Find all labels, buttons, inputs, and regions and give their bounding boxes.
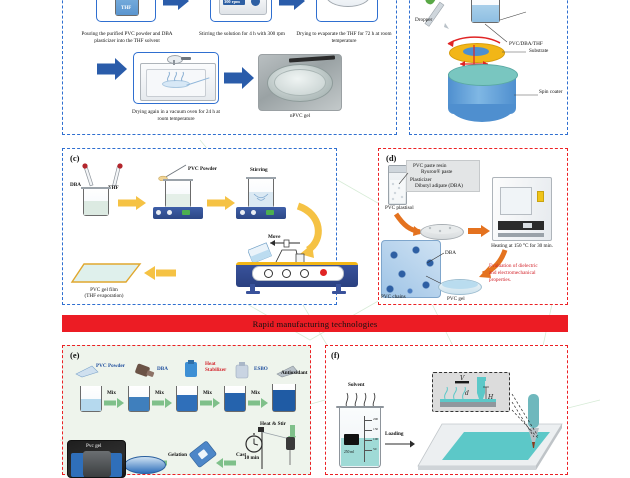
panel-a-step3-card: Solution bbox=[316, 0, 378, 22]
stirrer-display: 300 rpm bbox=[224, 0, 240, 4]
ingredient-label-4: Antioxidant bbox=[281, 370, 308, 377]
substrate-label: Substrate bbox=[529, 48, 548, 55]
mix-label-2: Mix bbox=[203, 390, 212, 397]
ingredient-text-0: PVC Powder bbox=[96, 363, 125, 369]
panel-e-beaker-3 bbox=[224, 386, 246, 412]
loading-label: Loading bbox=[385, 431, 403, 438]
svg-text:V: V bbox=[460, 375, 465, 382]
panel-c-arrow-out bbox=[144, 266, 176, 280]
svg-text:H: H bbox=[487, 394, 494, 401]
solution-dish bbox=[326, 0, 370, 7]
panel-c-arrow-1 bbox=[118, 196, 146, 210]
panel-c-beaker-2 bbox=[165, 180, 191, 208]
panel-c-output-line2: (THF evaporation) bbox=[64, 293, 144, 300]
rapid-manufacturing-banner: Rapid manufacturing technologies bbox=[62, 315, 568, 332]
panel-c-beaker-1 bbox=[83, 188, 109, 216]
solvent-beaker: 200 150 100 50 250 ml bbox=[339, 408, 381, 468]
esbo-bottle-icon bbox=[231, 362, 255, 380]
beaker-tick-3: 50 bbox=[373, 447, 376, 451]
evaluation-line-1: Evaluation of dielectric bbox=[489, 263, 538, 270]
panel-c-arrow-2 bbox=[207, 196, 235, 210]
panel-f-tag: (f) bbox=[331, 350, 340, 360]
solvent-label: Solvent bbox=[348, 382, 364, 389]
panel-a-arrow-2 bbox=[279, 0, 305, 10]
ingredient-label-1: DBA bbox=[157, 366, 168, 373]
panel-a-caption-3: Drying to evaporate the THF for 72 h at … bbox=[296, 31, 392, 44]
pvc-chains-label: PVC chains bbox=[381, 294, 406, 301]
beaker-leader-lines bbox=[498, 0, 556, 24]
dropper-label: Dropper bbox=[415, 17, 432, 24]
panel-a-arrow-4 bbox=[224, 67, 254, 89]
panel-b-beaker bbox=[471, 0, 500, 23]
panel-a-arrow-3 bbox=[97, 58, 127, 80]
vortex-icon bbox=[252, 192, 270, 204]
panel-a-arrow-1 bbox=[163, 0, 189, 10]
evaluation-line-2: and electromechanical bbox=[489, 270, 536, 277]
ingredient-label-0: PVC Powder bbox=[96, 364, 126, 370]
panel-a-caption-1: Pouring the purified PVC powder and DBA … bbox=[72, 31, 182, 44]
panel-a-caption-4: Drying again in a vacuum oven for 24 h a… bbox=[126, 109, 226, 122]
spin-coater-label: Spin coater bbox=[539, 89, 562, 96]
heating-oven bbox=[492, 177, 552, 241]
pvc-plastisol-label: PVC plastisol bbox=[385, 205, 414, 212]
heat-stabilizer-bottle-icon bbox=[180, 360, 204, 380]
stirring-label-c: Stirring bbox=[250, 167, 268, 174]
dba-leader-d bbox=[424, 252, 448, 266]
timer-icon bbox=[243, 432, 265, 454]
ingredient-text-2: Heat Stabilizer bbox=[205, 361, 226, 373]
dba-bottle-icon bbox=[132, 362, 156, 380]
ingredient-label-3: ESBO bbox=[254, 366, 268, 373]
panel-e-beaker-2 bbox=[176, 386, 198, 412]
panel-e-arrow-2 bbox=[200, 398, 220, 407]
callout-line-2: Ryuron® paste bbox=[421, 169, 452, 176]
beaker-tick-0: 200 bbox=[373, 417, 378, 421]
panel-d-arrow-2 bbox=[468, 225, 490, 237]
pouring-beaker-icon bbox=[188, 440, 224, 470]
npvc-gel-photo bbox=[258, 54, 342, 111]
inset-leader-lines bbox=[500, 392, 550, 444]
banner-label: Rapid manufacturing technologies bbox=[253, 319, 378, 329]
panel-d-arrow-1 bbox=[394, 212, 424, 238]
pvc-gel-label-d: PVC gel bbox=[447, 296, 465, 303]
callout-leader bbox=[398, 172, 410, 186]
mix-label-0: Mix bbox=[107, 390, 116, 397]
ingredient-label-2: Heat Stabilizer bbox=[205, 362, 233, 374]
panel-a-caption-5: nPVC gel bbox=[265, 113, 335, 120]
callout-line-4: Dibutyl adipate (DBA) bbox=[415, 183, 463, 190]
gelation-label: Gelation bbox=[168, 452, 187, 459]
vacuum-oven-card bbox=[133, 52, 219, 104]
panel-d-callout: PVC paste resin Ryuron® paste Plasticize… bbox=[406, 160, 480, 192]
beaker-tick-2: 100 bbox=[373, 437, 378, 441]
beaker-tick-1: 150 bbox=[373, 427, 378, 431]
panel-e-arrow-0 bbox=[104, 398, 124, 407]
dba-label-c: DBA bbox=[70, 182, 81, 189]
panel-e-beaker-0 bbox=[80, 386, 102, 412]
panel-e-beaker-4 bbox=[272, 384, 296, 412]
panel-e-arrow-1 bbox=[152, 398, 172, 407]
panel-e-tag: (e) bbox=[70, 350, 79, 360]
pvc-powder-label-c: PVC Powder bbox=[188, 166, 224, 173]
gelation-dish bbox=[124, 456, 166, 474]
thf-beaker-label: THF bbox=[121, 6, 131, 12]
spin-coater-top bbox=[448, 64, 518, 86]
panel-a-caption-2: Stirring the solution for 4 h with 300 r… bbox=[196, 31, 288, 38]
cast-label: Cast bbox=[236, 452, 246, 459]
loading-arrow bbox=[384, 439, 416, 449]
evaluation-line-3: properties. bbox=[489, 277, 511, 284]
panel-e-beaker-1 bbox=[128, 386, 150, 412]
mix-label-1: Mix bbox=[155, 390, 164, 397]
svg-text:d: d bbox=[465, 390, 469, 397]
pvc-powder-text: PVC Powder bbox=[188, 166, 217, 172]
panel-a-step2-card: 300 rpm bbox=[210, 0, 272, 22]
vapor-icon bbox=[164, 70, 190, 82]
panel-d-tag: (d) bbox=[386, 153, 396, 163]
panel-a-step1-card: THF bbox=[96, 0, 156, 22]
pvc-gel-photo-label: Pvc gel bbox=[86, 443, 101, 450]
mix-label-3: Mix bbox=[251, 390, 260, 397]
panel-e-arrow-3 bbox=[248, 398, 268, 407]
figure-root: THF 300 rpm Solution Pouring the purifie… bbox=[0, 0, 630, 472]
nozzle-inset: V d H bbox=[432, 372, 510, 412]
pvc-gel-film-icon bbox=[70, 262, 142, 286]
timer-label: 10 min bbox=[244, 455, 259, 462]
beaker-volume-label: 250 ml bbox=[344, 450, 354, 454]
